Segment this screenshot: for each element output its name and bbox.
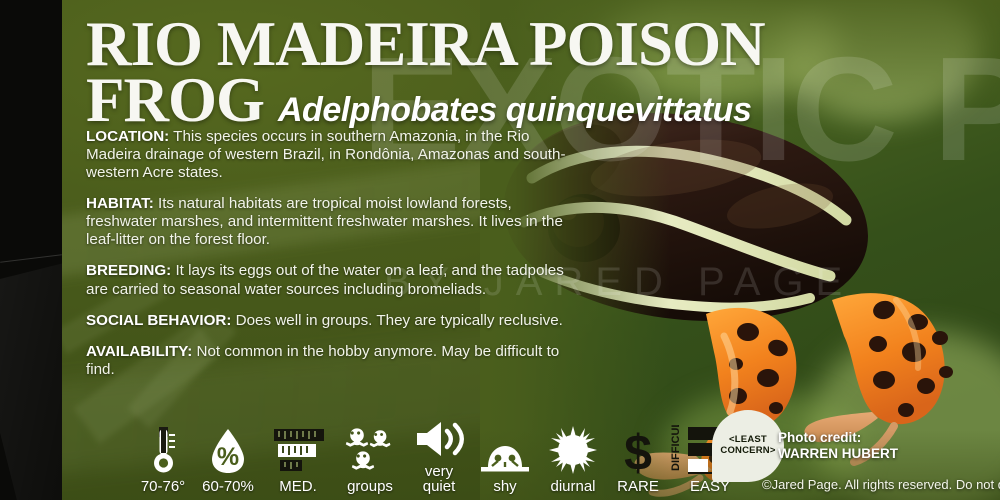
section-location: LOCATION: This species occurs in souther… xyxy=(86,128,586,182)
section-location-heading: LOCATION: xyxy=(86,128,169,145)
section-habitat: HABITAT: Its natural habitats are tropic… xyxy=(86,195,586,249)
page-title-line2: FROG xyxy=(86,70,264,130)
vocalization-line2: quiet xyxy=(423,478,456,495)
sidebar-divider-line xyxy=(0,254,62,263)
social-grouping-value: groups xyxy=(347,479,393,494)
copyright-notice: ©Jared Page. All rights reserved. Do not… xyxy=(762,477,1000,492)
section-habitat-heading: HABITAT: xyxy=(86,195,154,212)
section-social-behavior-text: Does well in groups. They are typically … xyxy=(231,312,562,329)
size-ruler-icon xyxy=(270,425,326,475)
speaker-quiet-icon xyxy=(413,410,465,460)
photo-credit-label: Photo credit: xyxy=(778,430,978,446)
temperature-value: 70-76° xyxy=(141,479,185,494)
sidebar: DART FROG xyxy=(0,0,62,500)
attribute-humidity: % 60-70% xyxy=(194,408,262,494)
svg-text:$: $ xyxy=(624,427,652,475)
attribute-social-grouping: groups xyxy=(334,408,406,494)
scientific-name: Adelphobates quinquevittatus xyxy=(278,91,751,130)
section-breeding: BREEDING: It lays its eggs out of the wa… xyxy=(86,262,586,298)
humidity-value: 60-70% xyxy=(202,479,254,494)
shy-hide-icon xyxy=(479,425,531,475)
temperament-value: shy xyxy=(493,479,516,494)
humidity-drop-icon: % xyxy=(209,425,247,475)
size-value: MED. xyxy=(279,479,317,494)
section-habitat-text: Its natural habitats are tropical moist … xyxy=(86,195,563,248)
vocalization-value: very quiet xyxy=(423,464,456,494)
attribute-availability-cost: $ RARE xyxy=(608,408,668,494)
conservation-status-text: <LEAST CONCERN> xyxy=(720,435,775,456)
attribute-temperament: shy xyxy=(472,408,538,494)
three-frogs-icon xyxy=(341,425,399,475)
species-label-card: DART FROG xyxy=(0,0,1000,500)
conservation-status-badge: <LEAST CONCERN> xyxy=(712,410,784,482)
section-social-behavior: SOCIAL BEHAVIOR: Does well in groups. Th… xyxy=(86,312,586,330)
svg-text:DIFFICULTY: DIFFICULTY xyxy=(670,425,682,471)
sidebar-sheen xyxy=(0,259,62,500)
attribute-temperature: 70-76° xyxy=(132,408,194,494)
availability-cost-value: RARE xyxy=(617,479,659,494)
sun-diurnal-icon xyxy=(548,425,598,475)
section-breeding-heading: BREEDING: xyxy=(86,262,171,279)
title-block: RIO MADEIRA POISON FROG Adelphobates qui… xyxy=(86,14,765,131)
sidebar-category-label: DART FROG xyxy=(0,0,62,62)
svg-text:%: % xyxy=(217,443,239,471)
attribute-size: MED. xyxy=(262,408,334,494)
section-social-behavior-heading: SOCIAL BEHAVIOR: xyxy=(86,312,231,329)
dollar-sign-icon: $ xyxy=(621,425,655,475)
thermometer-icon xyxy=(148,425,178,475)
description-body: LOCATION: This species occurs in souther… xyxy=(86,128,586,379)
section-availability-heading: AVAILABILITY: xyxy=(86,343,192,360)
conservation-line2: CONCERN> xyxy=(720,445,775,456)
section-availability: AVAILABILITY: Not common in the hobby an… xyxy=(86,343,586,379)
attribute-vocalization: very quiet xyxy=(406,408,472,494)
attribute-icon-row: 70-76° % 60-70% xyxy=(132,408,772,494)
main-panel: EXOTIC PET DECOR BY JARED PAGE RIO MADEI… xyxy=(62,0,1000,500)
attribute-activity-cycle: diurnal xyxy=(538,408,608,494)
photo-credit: Photo credit: WARREN HUBERT xyxy=(778,430,978,462)
activity-cycle-value: diurnal xyxy=(550,479,595,494)
conservation-line1: <LEAST xyxy=(729,434,767,445)
photographer-name: WARREN HUBERT xyxy=(778,446,978,462)
